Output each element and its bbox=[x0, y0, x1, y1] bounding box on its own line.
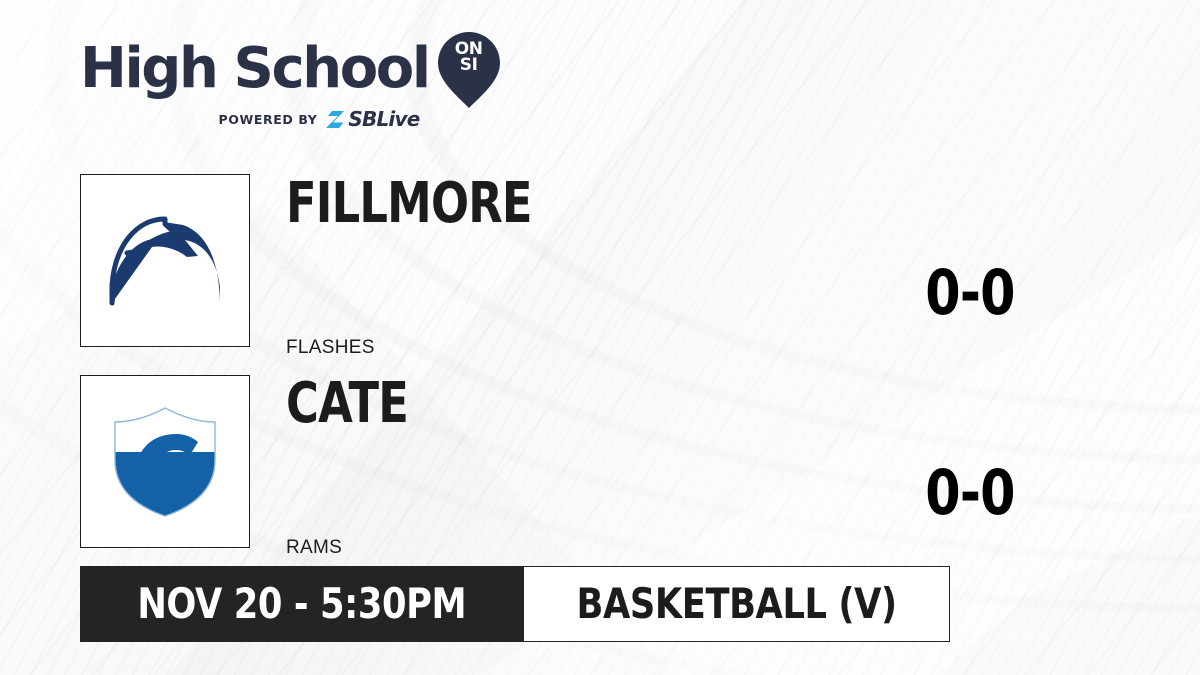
away-team-mascot: FLASHES bbox=[286, 338, 375, 358]
game-sport-text: BASKETBALL (V) bbox=[576, 583, 896, 625]
pin-line-si: SI bbox=[438, 57, 500, 73]
home-team-mascot: RAMS bbox=[286, 538, 342, 558]
game-datetime-block: NOV 20 - 5:30PM bbox=[80, 566, 524, 642]
away-team-name: FILLMORE bbox=[286, 176, 532, 232]
away-team-logo-box bbox=[80, 174, 250, 347]
shield-c-icon bbox=[112, 406, 218, 518]
away-team-record: 0-0 bbox=[896, 262, 1044, 324]
sblive-logo: SBLive bbox=[325, 107, 419, 131]
game-datetime-text: NOV 20 - 5:30PM bbox=[137, 583, 466, 625]
brand-title: High School bbox=[80, 40, 429, 98]
game-sport-block: BASKETBALL (V) bbox=[524, 566, 950, 642]
sblive-wordmark: SBLive bbox=[348, 107, 419, 131]
home-team-record: 0-0 bbox=[896, 462, 1044, 524]
powered-by-label: POWERED BY bbox=[219, 112, 318, 127]
sblive-bolt-icon bbox=[325, 110, 345, 129]
lightning-bolt-arc-icon bbox=[103, 207, 227, 315]
home-team-name: CATE bbox=[286, 376, 408, 432]
on-si-pin-icon: ON SI bbox=[438, 32, 500, 108]
game-info-banner: NOV 20 - 5:30PM BASKETBALL (V) bbox=[80, 566, 950, 642]
brand-logo: High School ON SI POWERED BY SBLive bbox=[80, 36, 510, 134]
home-team-logo-box bbox=[80, 375, 250, 548]
scoreboard-graphic: High School ON SI POWERED BY SBLive bbox=[0, 0, 1200, 675]
brand-wordmark: High School ON SI bbox=[80, 36, 510, 102]
powered-by-lockup: POWERED BY SBLive bbox=[80, 109, 510, 129]
on-si-pin-text: ON SI bbox=[438, 41, 500, 73]
